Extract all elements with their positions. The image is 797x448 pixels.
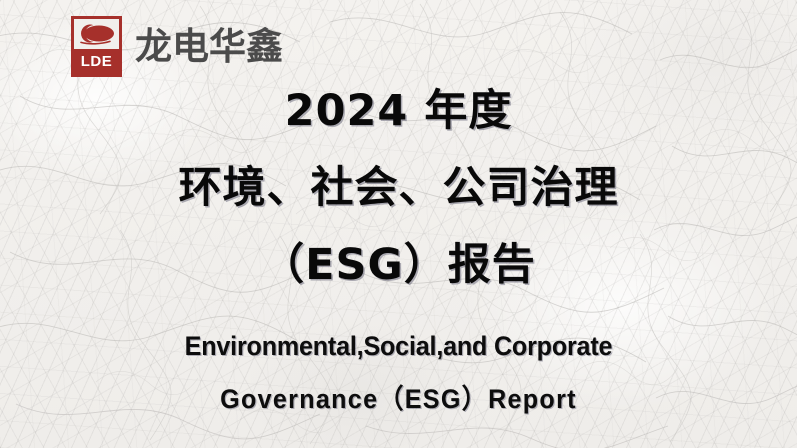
cover-title-line-esg-cn: 环境、社会、公司治理 xyxy=(0,167,797,210)
company-name-cn: 龙电华鑫 xyxy=(135,28,283,65)
cover-title-line-report-cn: （ESG）报告 xyxy=(0,244,797,287)
cover-subtitle-line-1: Environmental,Social,and Corporate xyxy=(28,333,769,360)
logo-mark-emblem-panel xyxy=(74,19,119,49)
brand-logo-block: LDE 龙电华鑫 xyxy=(71,16,283,77)
red-ellipse-crescent-icon xyxy=(77,23,117,45)
cover-subtitle-line-2: Governance（ESG）Report xyxy=(28,386,769,413)
report-cover-page: LDE 龙电华鑫 2024 年度 环境、社会、公司治理 （ESG）报告 Envi… xyxy=(0,0,797,448)
lde-logo-mark: LDE xyxy=(71,16,122,77)
logo-abbreviation-text: LDE xyxy=(81,54,113,69)
cover-subtitle-stack: Environmental,Social,and Corporate Gover… xyxy=(0,333,797,413)
logo-mark-abbr-panel: LDE xyxy=(74,49,119,74)
cover-title-line-year: 2024 年度 xyxy=(0,90,797,133)
cover-title-stack: 2024 年度 环境、社会、公司治理 （ESG）报告 xyxy=(0,90,797,287)
